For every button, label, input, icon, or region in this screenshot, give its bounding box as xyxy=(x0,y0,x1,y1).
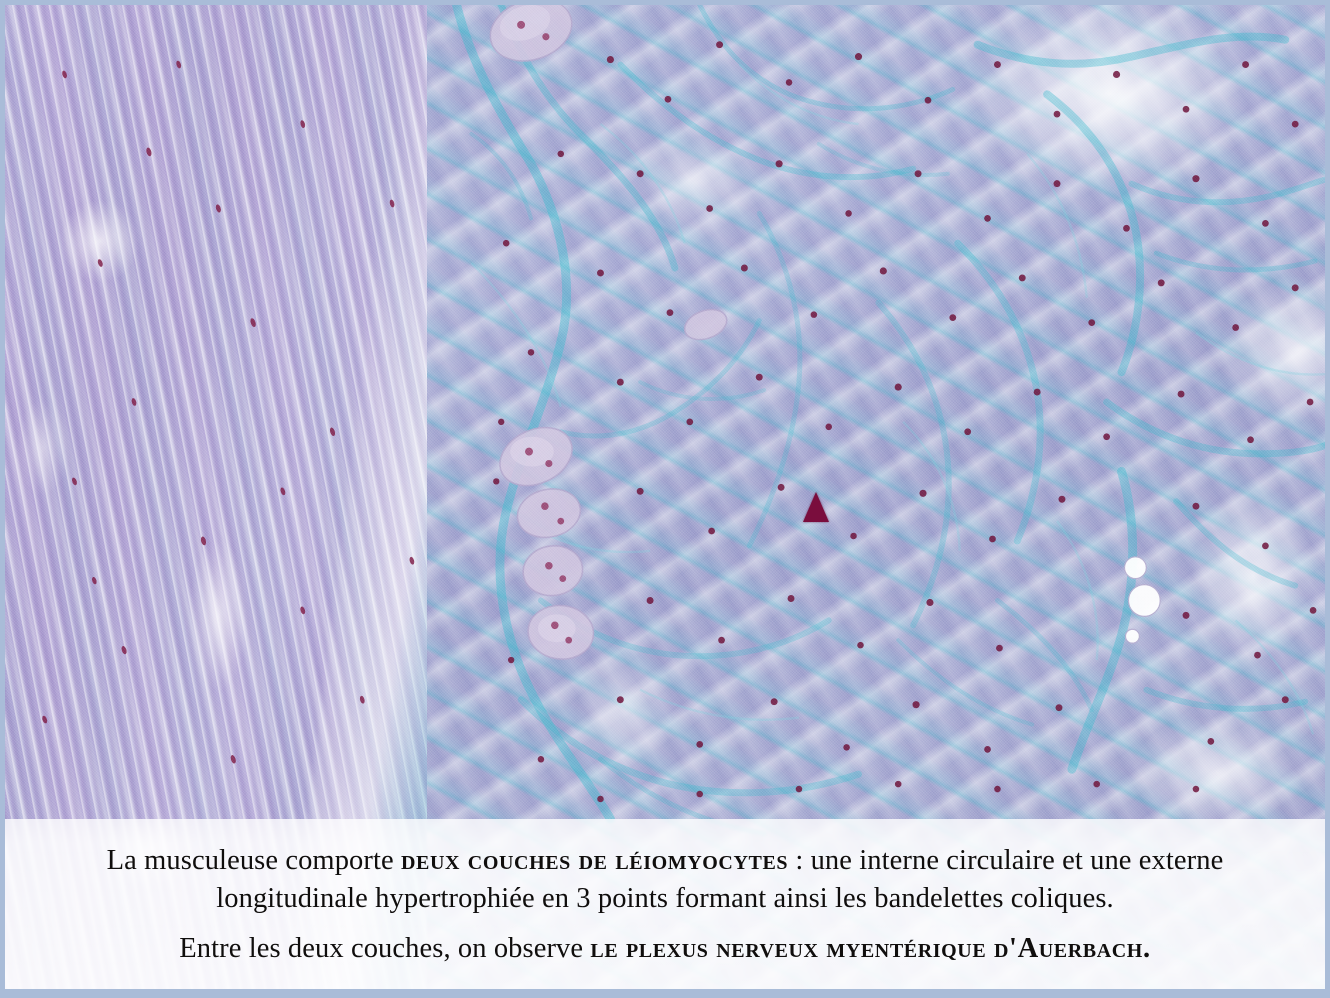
caption-p2-part1: Entre les deux couches, on observe xyxy=(179,933,590,964)
arrowhead-marker-icon xyxy=(803,492,829,522)
caption-p1-emphasis: deux couches de léiomyocytes xyxy=(401,845,788,876)
caption-p2-emphasis: le plexus nerveux myentérique d'Auerbach… xyxy=(590,933,1150,964)
caption-paragraph-1: La musculeuse comporte deux couches de l… xyxy=(75,842,1255,917)
caption-paragraph-2: Entre les deux couches, on observe le pl… xyxy=(179,930,1150,968)
caption-p1-part1: La musculeuse comporte xyxy=(107,845,401,876)
figure-caption: La musculeuse comporte deux couches de l… xyxy=(5,819,1325,989)
histology-figure: La musculeuse comporte deux couches de l… xyxy=(0,0,1330,998)
